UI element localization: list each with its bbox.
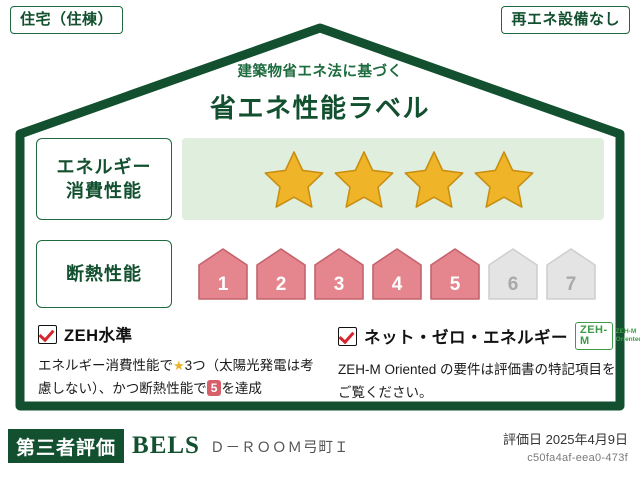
insulation-level-1-value: 1 — [195, 274, 251, 296]
checkbox-checked-icon — [38, 325, 57, 344]
row-insulation-performance: 断熱性能 1 2 3 4 — [36, 240, 604, 308]
star-3 — [403, 149, 465, 209]
title-main: 省エネ性能ラベル — [14, 88, 626, 125]
insulation-level-7-value: 7 — [543, 274, 599, 296]
inline-star-icon: ★ — [173, 358, 185, 373]
zeh-text-post: を達成 — [221, 381, 262, 396]
insulation-level-6-value: 6 — [485, 274, 541, 296]
property-name: Ｄ－ＲＯＯＭ弓町Ｉ — [210, 436, 350, 457]
zeh-m-sublabel: ZEH-M Oriented — [616, 328, 640, 344]
zeh-m-sublabel-line1: ZEH-M — [616, 328, 637, 335]
zeh-m-logo: ZEH-M ZEH-M Oriented — [575, 322, 640, 350]
checkbox-checked-icon — [338, 327, 357, 346]
insulation-levels: 1 2 3 4 5 — [182, 240, 604, 308]
label-insulation-performance: 断熱性能 — [36, 240, 172, 308]
insulation-level-5: 5 — [427, 245, 483, 303]
criteria-nzeb-header: ネット・ゼロ・エネルギー ZEH-M ZEH-M Oriented — [338, 322, 620, 350]
label-energy-line2: 消費性能 — [66, 181, 142, 201]
star-1 — [263, 149, 325, 209]
footer: 第三者評価 BELS Ｄ－ＲＯＯＭ弓町Ｉ 評価日 2025年4月9日 c50fa… — [8, 424, 632, 468]
insulation-level-7: 7 — [543, 245, 599, 303]
insulation-level-2: 2 — [253, 245, 309, 303]
insulation-level-4: 4 — [369, 245, 425, 303]
insulation-level-1: 1 — [195, 245, 251, 303]
label-energy-performance: エネルギー 消費性能 — [36, 138, 172, 220]
title-block: 建築物省エネ法に基づく 省エネ性能ラベル — [14, 60, 626, 125]
third-party-eval-label: 第三者評価 — [8, 429, 124, 463]
criteria-zeh-text: エネルギー消費性能で★3つ（太陽光発電は考慮しない）、かつ断熱性能で5を達成 — [38, 354, 320, 401]
zeh-text-pre: エネルギー消費性能で — [38, 358, 173, 373]
criteria-zeh-title: ZEH水準 — [64, 322, 133, 346]
zeh-m-sublabel-line2: Oriented — [616, 336, 640, 343]
criteria-zeh: ZEH水準 エネルギー消費性能で★3つ（太陽光発電は考慮しない）、かつ断熱性能で… — [38, 322, 320, 404]
star-2 — [333, 149, 395, 209]
eval-date-value: 2025年4月9日 — [546, 432, 628, 447]
insulation-level-3-value: 3 — [311, 274, 367, 296]
criteria-nzeb-text: ZEH-M Oriented の要件は評価書の特記項目をご覧ください。 — [338, 358, 620, 404]
star-4 — [473, 149, 535, 209]
insulation-level-4-value: 4 — [369, 274, 425, 296]
insulation-level-3: 3 — [311, 245, 367, 303]
label-energy-line1: エネルギー — [57, 157, 152, 177]
title-sub: 建築物省エネ法に基づく — [14, 60, 626, 81]
criteria-nzeb-title: ネット・ゼロ・エネルギー — [364, 324, 568, 348]
bels-mark: BELS — [124, 429, 208, 463]
eval-id: c50fa4af-eea0-473f — [503, 452, 628, 464]
eval-info: 評価日 2025年4月9日 c50fa4af-eea0-473f — [503, 429, 632, 464]
house-content: 建築物省エネ法に基づく 省エネ性能ラベル エネルギー 消費性能 — [14, 22, 626, 412]
insulation-level-2-value: 2 — [253, 274, 309, 296]
insulation-level-6: 6 — [485, 245, 541, 303]
bels-block: 第三者評価 BELS — [8, 429, 208, 463]
zeh-m-badge: ZEH-M — [575, 322, 613, 350]
zeh-insulation-badge: 5 — [207, 380, 222, 396]
criteria-nzeb: ネット・ゼロ・エネルギー ZEH-M ZEH-M Oriented ZEH-M … — [338, 322, 620, 404]
criteria-columns: ZEH水準 エネルギー消費性能で★3つ（太陽光発電は考慮しない）、かつ断熱性能で… — [38, 322, 626, 404]
eval-date-line: 評価日 2025年4月9日 — [503, 429, 628, 448]
eval-date-label: 評価日 — [503, 432, 542, 447]
insulation-level-5-value: 5 — [427, 274, 483, 296]
criteria-zeh-header: ZEH水準 — [38, 322, 320, 346]
energy-stars — [182, 138, 604, 220]
label-sheet: 住宅（住棟） 再エネ設備なし 建築物省エネ法に基づく 省エネ性能ラベル エネルギ… — [0, 0, 640, 477]
row-energy-performance: エネルギー 消費性能 — [36, 138, 604, 220]
